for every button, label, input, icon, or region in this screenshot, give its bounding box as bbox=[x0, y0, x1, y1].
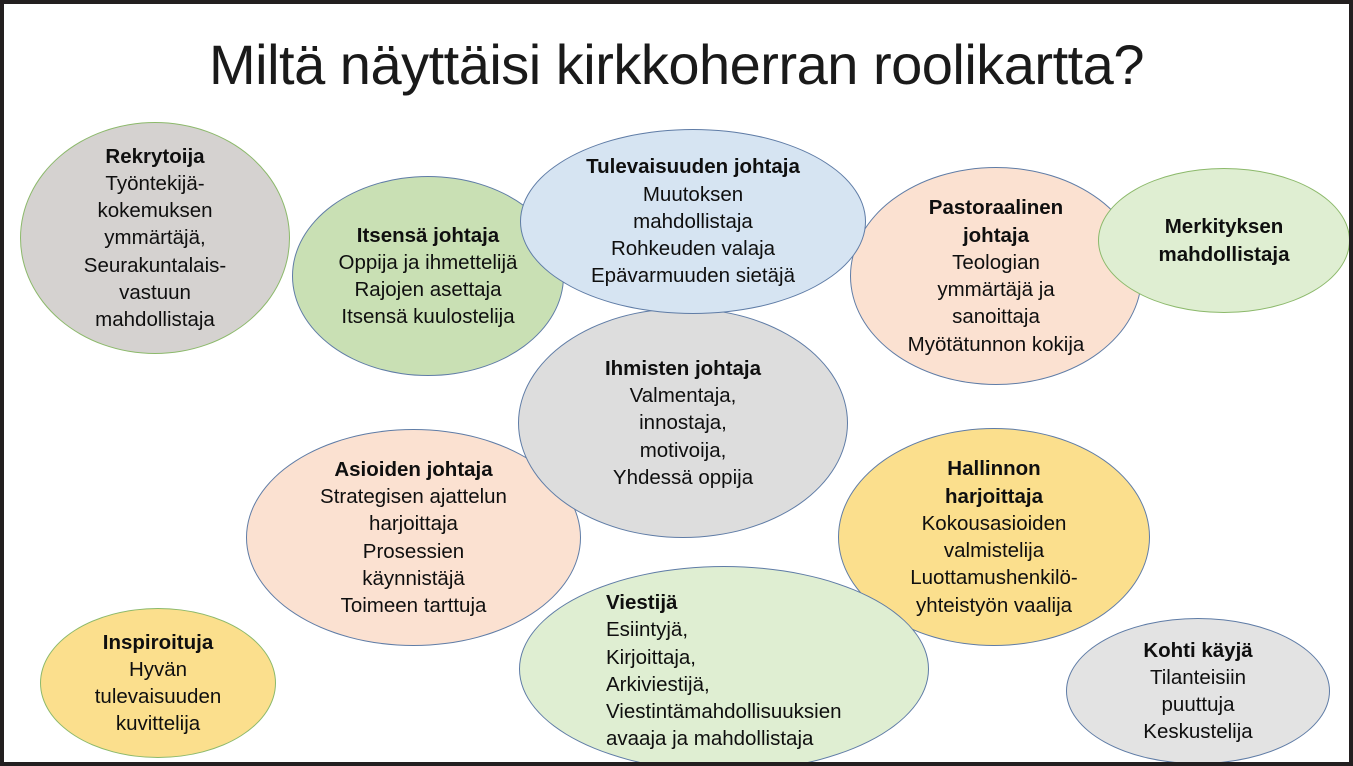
role-title: Viestijä bbox=[606, 589, 677, 616]
role-line: Strategisen ajattelun bbox=[320, 483, 507, 510]
role-line: Toimeen tarttuja bbox=[341, 592, 487, 619]
role-line: Tilanteisiin bbox=[1150, 664, 1246, 691]
ellipse-pastoraalinen-johtaja[interactable]: Pastoraalinen johtaja Teologian ymmärtäj… bbox=[850, 167, 1142, 385]
ellipse-viestija[interactable]: Viestijä Esiintyjä, Kirjoittaja, Arkivie… bbox=[519, 566, 929, 766]
role-line: Valmentaja, bbox=[630, 382, 737, 409]
role-line: Oppija ja ihmettelijä bbox=[339, 249, 518, 276]
role-line: sanoittaja bbox=[952, 303, 1040, 330]
role-line: innostaja, bbox=[639, 409, 727, 436]
role-line: Arkiviestijä, bbox=[606, 671, 710, 698]
role-line: Itsensä kuulostelija bbox=[341, 303, 514, 330]
role-line: Keskustelija bbox=[1143, 718, 1252, 745]
ellipse-inspiroituja[interactable]: Inspiroituja Hyvän tulevaisuuden kuvitte… bbox=[40, 608, 276, 758]
ellipse-rekrytoija[interactable]: Rekrytoija Työntekijä- kokemuksen ymmärt… bbox=[20, 122, 290, 354]
role-line: motivoija, bbox=[640, 437, 727, 464]
ellipse-kohti-kayja[interactable]: Kohti käyjä Tilanteisiin puuttuja Keskus… bbox=[1066, 618, 1330, 764]
role-line: Kokousasioiden bbox=[922, 510, 1067, 537]
role-line: Prosessien bbox=[363, 538, 464, 565]
ellipse-tulevaisuuden-johtaja[interactable]: Tulevaisuuden johtaja Muutoksen mahdolli… bbox=[520, 129, 866, 314]
role-line: kuvittelija bbox=[116, 710, 200, 737]
role-line: Esiintyjä, bbox=[606, 616, 688, 643]
role-line: Teologian bbox=[952, 249, 1040, 276]
role-line: valmistelija bbox=[944, 537, 1044, 564]
role-line: käynnistäjä bbox=[362, 565, 465, 592]
role-line: Rohkeuden valaja bbox=[611, 235, 775, 262]
role-title: Asioiden johtaja bbox=[334, 456, 492, 483]
page-title: Miltä näyttäisi kirkkoherran roolikartta… bbox=[4, 34, 1349, 96]
role-title: Inspiroituja bbox=[103, 629, 213, 656]
role-line: harjoittaja bbox=[369, 510, 458, 537]
role-title: Hallinnon harjoittaja bbox=[924, 455, 1064, 510]
slide-canvas: Miltä näyttäisi kirkkoherran roolikartta… bbox=[0, 0, 1353, 766]
role-line: avaaja ja mahdollistaja bbox=[606, 725, 813, 752]
role-line: Luottamushenkilö- bbox=[910, 564, 1078, 591]
ellipse-ihmisten-johtaja[interactable]: Ihmisten johtaja Valmentaja, innostaja, … bbox=[518, 308, 848, 538]
role-line: Yhdessä oppija bbox=[613, 464, 753, 491]
role-line: tulevaisuuden bbox=[95, 683, 222, 710]
role-line: Viestintämahdollisuuksien bbox=[606, 698, 842, 725]
role-title: Rekrytoija bbox=[105, 143, 204, 170]
role-line: ymmärtäjä ja bbox=[937, 276, 1054, 303]
role-line: kokemuksen bbox=[97, 197, 212, 224]
role-line: Rajojen asettaja bbox=[354, 276, 501, 303]
role-title: Pastoraalinen johtaja bbox=[921, 194, 1071, 249]
role-line: Muutoksen bbox=[643, 181, 743, 208]
role-line: Epävarmuuden sietäjä bbox=[591, 262, 795, 289]
role-line: Kirjoittaja, bbox=[606, 644, 696, 671]
role-line: vastuun bbox=[119, 279, 191, 306]
role-line: mahdollistaja bbox=[95, 306, 215, 333]
role-title: Kohti käyjä bbox=[1143, 637, 1252, 664]
role-line: Työntekijä- bbox=[105, 170, 204, 197]
role-line: yhteistyön vaalija bbox=[916, 592, 1072, 619]
role-title: Merkityksen mahdollistaja bbox=[1144, 213, 1304, 268]
role-line: puuttuja bbox=[1162, 691, 1235, 718]
role-line: Hyvän bbox=[129, 656, 187, 683]
role-line: mahdollistaja bbox=[633, 208, 753, 235]
role-line: ymmärtäjä, bbox=[104, 224, 205, 251]
role-title: Tulevaisuuden johtaja bbox=[586, 153, 800, 180]
role-title: Itsensä johtaja bbox=[357, 222, 499, 249]
role-line: Myötätunnon kokija bbox=[908, 331, 1085, 358]
role-title: Ihmisten johtaja bbox=[605, 355, 761, 382]
ellipse-merkityksen-mahdollistaja[interactable]: Merkityksen mahdollistaja bbox=[1098, 168, 1350, 313]
role-line: Seurakuntalais- bbox=[84, 252, 226, 279]
